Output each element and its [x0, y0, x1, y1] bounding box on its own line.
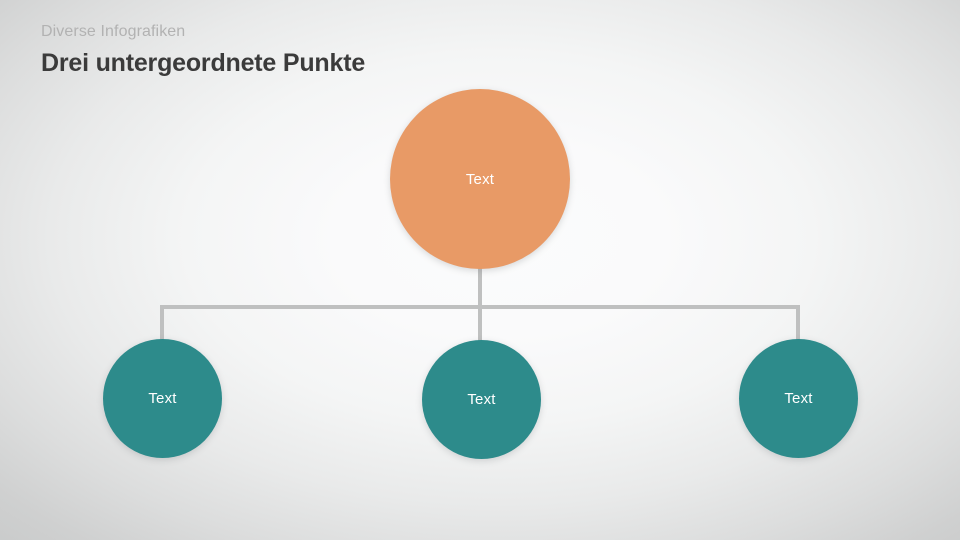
node-child-circle-2[interactable]: Text	[422, 340, 541, 459]
connector-drop-center	[478, 305, 482, 345]
slide-title: Drei untergeordnete Punkte	[41, 48, 761, 78]
slide-eyebrow: Diverse Infografiken	[41, 22, 761, 42]
node-child-label-3: Text	[784, 391, 812, 406]
slide-canvas: Diverse Infografiken Drei untergeordnete…	[0, 0, 960, 540]
node-child-label-1: Text	[148, 391, 176, 406]
node-child-circle-3[interactable]: Text	[739, 339, 858, 458]
node-root-circle[interactable]: Text	[390, 89, 570, 269]
node-child-circle-1[interactable]: Text	[103, 339, 222, 458]
node-root-label: Text	[466, 172, 494, 187]
slide-header: Diverse Infografiken Drei untergeordnete…	[41, 22, 761, 78]
node-child-label-2: Text	[467, 392, 495, 407]
